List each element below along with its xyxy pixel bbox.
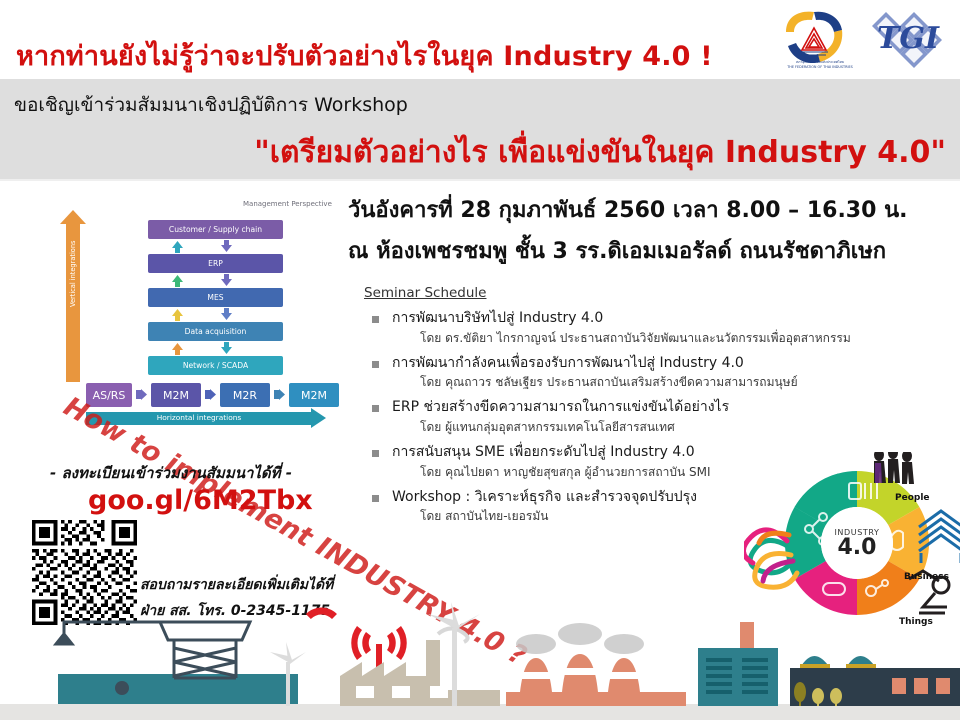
seminar-slogan: "เตรียมตัวอย่างไร เพื่อแข่งขันในยุค Indu… xyxy=(254,129,946,176)
management-perspective-label: Management Perspective xyxy=(243,200,332,208)
schedule-topic: การพัฒนากำลังคนเพื่อรองรับการพัฒนาไปสู่ … xyxy=(392,355,952,373)
event-venue: ณ ห้องเพชรชมพู ชั้น 3 รร.ดิเอมเมอรัลด์ ถ… xyxy=(348,233,886,268)
contact-line-1: สอบถามรายละเอียดเพิ่มเติมได้ที่ xyxy=(140,574,333,596)
invitation-text: ขอเชิญเข้าร่วมสัมมนาเชิงปฏิบัติการ Works… xyxy=(14,90,408,120)
wheel-label-people: People xyxy=(895,493,930,503)
horizontal-integration-label: Horizontal integrations xyxy=(86,413,312,422)
schedule-topic: ERP ช่วยสร้างขีดความสามารถในการแข่งขันได… xyxy=(392,399,952,417)
industrial-city-skyline-illustration xyxy=(0,600,960,720)
wifi-arc-icon xyxy=(306,600,337,630)
wheel-center-value: 4.0 xyxy=(838,537,877,559)
vertical-integration-label: Vertical integrations xyxy=(69,241,77,307)
list-item: การพัฒนากำลังคนเพื่อรองรับการพัฒนาไปสู่ … xyxy=(372,355,952,391)
wheel-center-label: INDUSTRY 4.0 xyxy=(822,508,892,578)
stack-connector xyxy=(148,341,283,356)
schedule-heading: Seminar Schedule xyxy=(364,285,486,301)
chevron-right-icon xyxy=(136,389,147,400)
page-title: หากท่านยังไม่รู้ว่าจะปรับตัวอย่างไรในยุค… xyxy=(16,34,713,77)
hbox-m2r: M2R xyxy=(220,383,270,407)
fti-logo-caption: สภาอุตสาหกรรมแห่งประเทศไทย THE FEDERATIO… xyxy=(780,60,860,70)
schedule-speaker: โดย คุณถาวร ชลัษเฐียร ประธานสถาบันเสริมส… xyxy=(420,374,952,390)
square-bullet-icon xyxy=(372,495,379,502)
chevron-right-icon xyxy=(205,389,216,400)
registration-url[interactable]: goo.gl/6M2Tbx xyxy=(88,485,313,516)
list-item: การพัฒนาบริษัทไปสู่ Industry 4.0 โดย ดร.… xyxy=(372,310,952,346)
power-plant-salmon xyxy=(506,623,686,706)
square-bullet-icon xyxy=(372,316,379,323)
square-bullet-icon xyxy=(372,405,379,412)
stack-box-mes: MES xyxy=(148,288,283,307)
chevron-right-icon xyxy=(274,389,285,400)
seminar-poster: หากท่านยังไม่รู้ว่าจะปรับตัวอย่างไรในยุค… xyxy=(0,0,960,720)
schedule-topic: การพัฒนาบริษัทไปสู่ Industry 4.0 xyxy=(392,310,952,328)
square-bullet-icon xyxy=(372,361,379,368)
list-item: ERP ช่วยสร้างขีดความสามารถในการแข่งขันได… xyxy=(372,399,952,435)
vertical-stack: Customer / Supply chain ERP MES xyxy=(148,220,283,375)
registration-call-to-action: - ลงทะเบียนเข้าร่วมงานสัมมนาได้ที่ - xyxy=(50,461,292,485)
hbox-m2m-2: M2M xyxy=(289,383,339,407)
horizontal-row: AS/RS M2M M2R M2M xyxy=(28,383,350,407)
stack-box-data-acquisition: Data acquisition xyxy=(148,322,283,341)
square-bullet-icon xyxy=(372,450,379,457)
crane-icon xyxy=(56,622,250,678)
hbox-asrs-1: AS/RS xyxy=(86,383,132,407)
hbox-m2m-1: M2M xyxy=(151,383,201,407)
teal-office-block xyxy=(698,622,778,706)
logo-group: สภาอุตสาหกรรมแห่งประเทศไทย THE FEDERATIO… xyxy=(780,4,950,76)
schedule-speaker: โดย ดร.ขัติยา ไกรกาญจน์ ประธานสถาบันวิจั… xyxy=(420,330,952,346)
tgi-logo: TGI xyxy=(868,8,948,70)
horizontal-integration-bar: Horizontal integrations xyxy=(86,412,312,425)
stack-box-customer: Customer / Supply chain xyxy=(148,220,283,239)
stack-connector xyxy=(148,273,283,288)
industry40-architecture-diagram: Management Perspective Vertical integrat… xyxy=(28,196,350,436)
connector-arrows-icon xyxy=(148,307,283,322)
stack-connector xyxy=(148,307,283,322)
schedule-speaker: โดย ผู้แทนกลุ่มอุตสาหกรรมเทคโนโลยีสารสนเ… xyxy=(420,419,952,435)
event-datetime: วันอังคารที่ 28 กุมภาพันธ์ 2560 เวลา 8.0… xyxy=(348,192,907,227)
svg-text:TGI: TGI xyxy=(877,21,940,56)
stack-box-network-scada: Network / SCADA xyxy=(148,356,283,375)
connector-arrows-icon xyxy=(148,273,283,288)
stack-connector xyxy=(148,239,283,254)
vertical-integration-arrow: Vertical integrations xyxy=(66,222,80,382)
connector-arrows-icon xyxy=(148,239,283,254)
stack-box-erp: ERP xyxy=(148,254,283,273)
wheel-label-business: Business xyxy=(904,572,949,582)
connector-arrows-icon xyxy=(148,341,283,356)
